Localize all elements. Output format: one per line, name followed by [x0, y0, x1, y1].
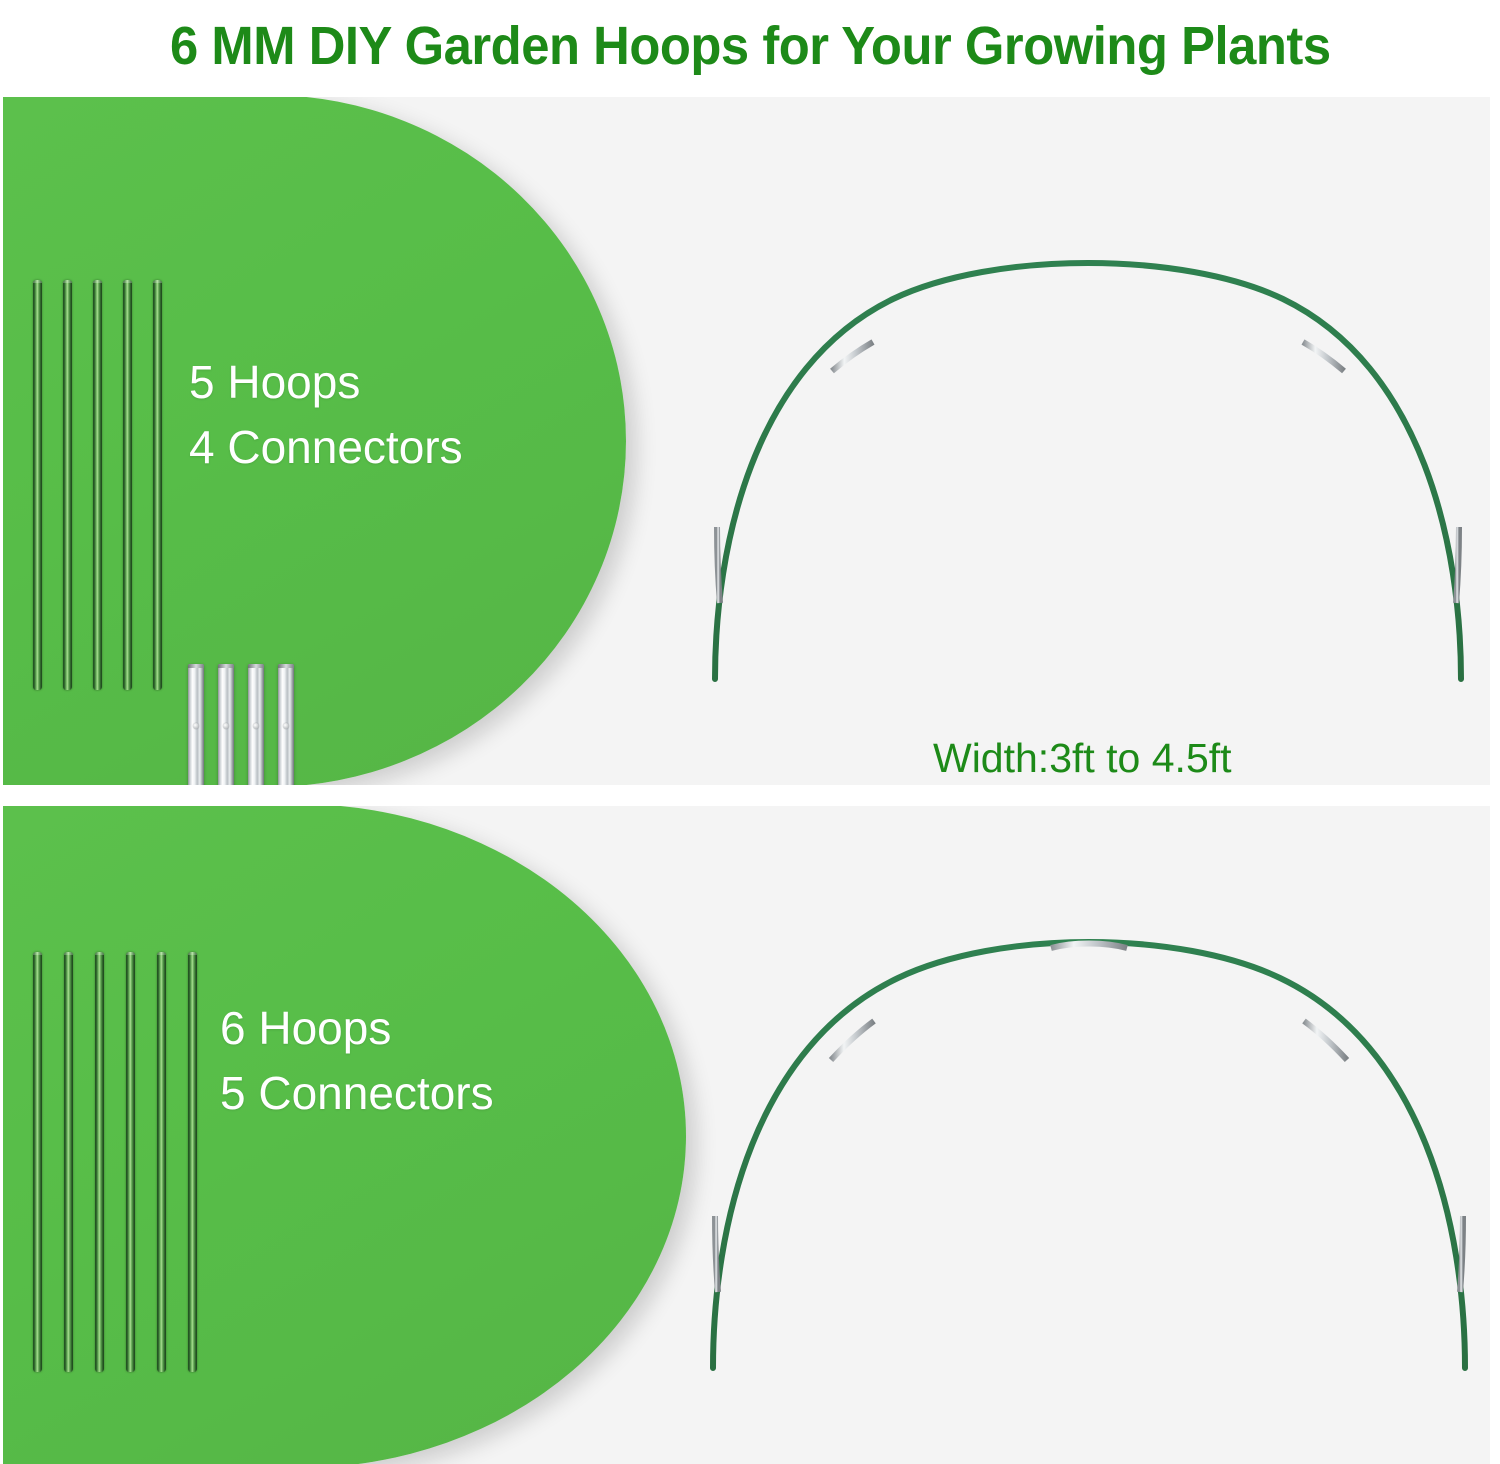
- hoop-connector-segment: [717, 527, 720, 603]
- hoop-rod: [63, 280, 72, 690]
- hoop-rod: [33, 952, 42, 1372]
- panel-bottom-contents-label: 6 Hoops 5 Connectors: [220, 996, 494, 1127]
- hoop-connector-segment: [1303, 342, 1344, 371]
- hoop-rod: [123, 280, 132, 690]
- hoop-rod: [157, 952, 166, 1372]
- connector-dimple-icon: [253, 723, 259, 729]
- hoop-connector-segment: [1304, 1021, 1347, 1060]
- hoop-connector-segment: [832, 342, 873, 371]
- hoop-rod: [153, 280, 162, 690]
- page-title: 6 MM DIY Garden Hoops for Your Growing P…: [170, 15, 1331, 77]
- product-panel-top: 5 Hoops 4 Connectors W: [3, 97, 1490, 785]
- hoops-count-label: 5 Hoops: [189, 350, 463, 415]
- metal-connector: [188, 664, 204, 785]
- hoop-rod: [64, 952, 73, 1372]
- hoop-arc-path: [715, 263, 1461, 679]
- hoop-rod: [188, 952, 197, 1372]
- metal-connector: [218, 664, 234, 785]
- hoop-rod-group: [33, 952, 219, 1372]
- connector-dimple-icon: [223, 723, 229, 729]
- hoop-arc-svg: [693, 916, 1483, 1376]
- metal-connector: [248, 664, 264, 785]
- hoop-connector-segment: [1456, 527, 1459, 603]
- connector-dimple-icon: [283, 723, 289, 729]
- hoop-arc-path: [713, 942, 1465, 1368]
- connector-dimple-icon: [193, 723, 199, 729]
- hoop-rod: [93, 280, 102, 690]
- title-bar: 6 MM DIY Garden Hoops for Your Growing P…: [0, 0, 1500, 92]
- panel-top-contents-label: 5 Hoops 4 Connectors: [189, 350, 463, 481]
- product-panel-bottom: 6 Hoops 5 Connectors: [3, 806, 1490, 1464]
- metal-connector: [278, 664, 294, 785]
- hoop-rod-group: [33, 280, 183, 690]
- connectors-count-label: 4 Connectors: [189, 415, 463, 480]
- hoop-connector-segment: [831, 1021, 874, 1060]
- hoop-connector-segment: [1051, 944, 1127, 949]
- hoop-rod: [95, 952, 104, 1372]
- connectors-count-label: 5 Connectors: [220, 1061, 494, 1126]
- hoop-arc-svg: [693, 247, 1483, 687]
- hoop-rod: [33, 280, 42, 690]
- hoop-illustration-bottom: [693, 916, 1483, 1376]
- hoop-illustration-top: [693, 247, 1483, 687]
- width-caption-top: Width:3ft to 4.5ft: [933, 735, 1232, 782]
- hoop-connector-segment: [715, 1216, 718, 1292]
- metal-connector-group: [188, 664, 308, 785]
- hoops-count-label: 6 Hoops: [220, 996, 494, 1061]
- hoop-connector-segment: [1460, 1216, 1463, 1292]
- hoop-rod: [126, 952, 135, 1372]
